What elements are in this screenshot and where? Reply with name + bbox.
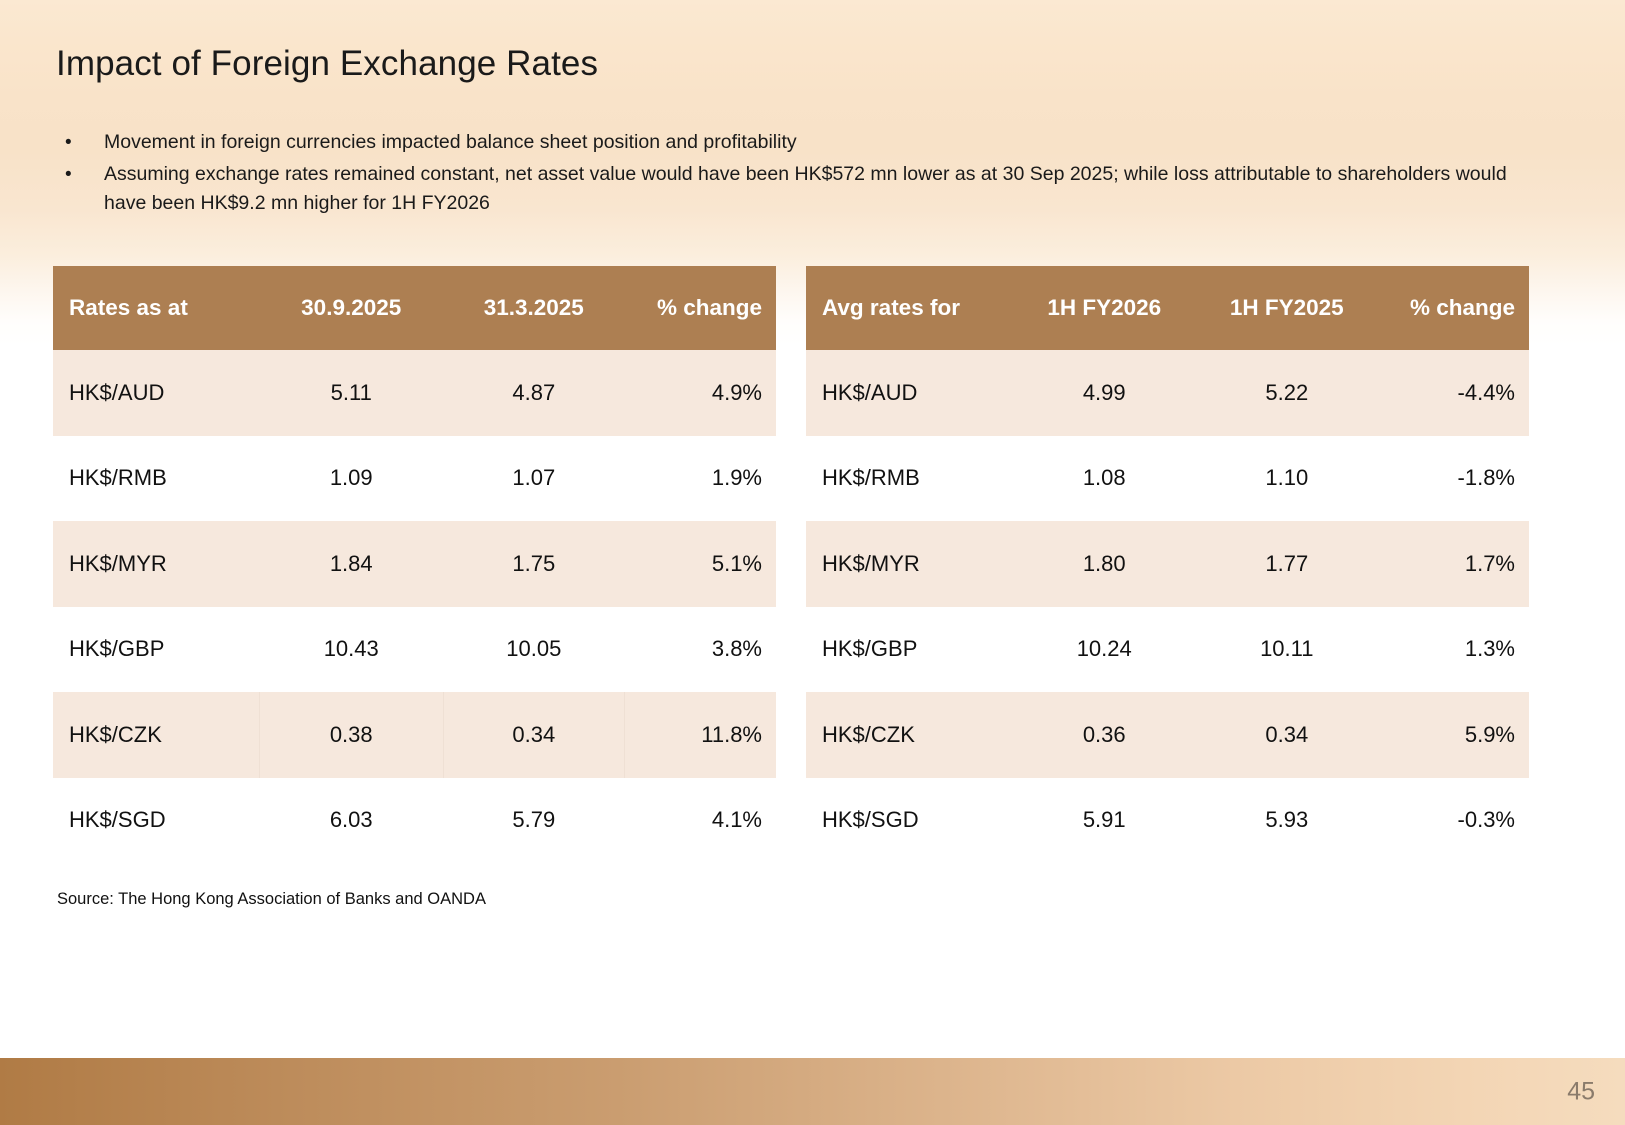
cell-change: 4.9% [624, 350, 776, 436]
table-row: HK$/CZK 0.38 0.34 11.8% [53, 692, 776, 778]
page-number: 45 [1567, 1077, 1595, 1106]
column-header-value2: 31.3.2025 [443, 266, 624, 350]
cell-change: 1.7% [1377, 521, 1529, 607]
cell-value1: 1.09 [259, 436, 443, 522]
cell-currency: HK$/AUD [53, 350, 259, 436]
column-header-value1: 30.9.2025 [259, 266, 443, 350]
cell-value1: 10.43 [259, 607, 443, 693]
cell-change: -4.4% [1377, 350, 1529, 436]
column-header-change: % change [1377, 266, 1529, 350]
table-body: HK$/AUD 4.99 5.22 -4.4% HK$/RMB 1.08 1.1… [806, 350, 1529, 863]
cell-currency: HK$/MYR [806, 521, 1012, 607]
cell-value1: 0.38 [259, 692, 443, 778]
cell-change: 1.9% [624, 436, 776, 522]
cell-change: 11.8% [624, 692, 776, 778]
list-item: • Movement in foreign currencies impacte… [56, 128, 1536, 158]
cell-currency: HK$/CZK [53, 692, 259, 778]
cell-value1: 5.91 [1012, 778, 1196, 864]
table-header-row: Avg rates for 1H FY2026 1H FY2025 % chan… [806, 266, 1529, 350]
cell-value1: 0.36 [1012, 692, 1196, 778]
cell-value2: 1.10 [1196, 436, 1377, 522]
cell-currency: HK$/RMB [53, 436, 259, 522]
cell-change: 3.8% [624, 607, 776, 693]
table-row: HK$/MYR 1.80 1.77 1.7% [806, 521, 1529, 607]
cell-value1: 1.08 [1012, 436, 1196, 522]
cell-value2: 10.11 [1196, 607, 1377, 693]
table-body: HK$/AUD 5.11 4.87 4.9% HK$/RMB 1.09 1.07… [53, 350, 776, 863]
cell-value1: 1.84 [259, 521, 443, 607]
table-row: HK$/GBP 10.24 10.11 1.3% [806, 607, 1529, 693]
average-rates-table: Avg rates for 1H FY2026 1H FY2025 % chan… [806, 266, 1529, 863]
cell-change: 4.1% [624, 778, 776, 864]
cell-value1: 4.99 [1012, 350, 1196, 436]
table-row: HK$/AUD 5.11 4.87 4.9% [53, 350, 776, 436]
cell-value1: 6.03 [259, 778, 443, 864]
cell-currency: HK$/CZK [806, 692, 1012, 778]
cell-value2: 5.79 [443, 778, 624, 864]
source-note: Source: The Hong Kong Association of Ban… [57, 890, 486, 909]
bullet-marker-icon: • [56, 128, 104, 157]
table-row: HK$/SGD 6.03 5.79 4.1% [53, 778, 776, 864]
cell-value2: 1.75 [443, 521, 624, 607]
cell-change: 1.3% [1377, 607, 1529, 693]
bullet-marker-icon: • [56, 160, 104, 189]
table-header: Avg rates for 1H FY2026 1H FY2025 % chan… [806, 266, 1529, 350]
column-header-value1: 1H FY2026 [1012, 266, 1196, 350]
tables-container: Rates as at 30.9.2025 31.3.2025 % change… [53, 266, 1531, 863]
footer-bar: 45 [0, 1058, 1625, 1125]
cell-currency: HK$/SGD [806, 778, 1012, 864]
bullet-text: Movement in foreign currencies impacted … [104, 128, 1536, 158]
cell-value2: 5.93 [1196, 778, 1377, 864]
table-row: HK$/AUD 4.99 5.22 -4.4% [806, 350, 1529, 436]
column-header-label: Rates as at [53, 266, 259, 350]
slide-canvas: Impact of Foreign Exchange Rates • Movem… [0, 0, 1625, 1125]
bullet-list: • Movement in foreign currencies impacte… [56, 128, 1536, 221]
cell-value2: 0.34 [1196, 692, 1377, 778]
column-header-change: % change [624, 266, 776, 350]
cell-value1: 10.24 [1012, 607, 1196, 693]
cell-value2: 1.07 [443, 436, 624, 522]
cell-value2: 0.34 [443, 692, 624, 778]
cell-value2: 5.22 [1196, 350, 1377, 436]
cell-value1: 5.11 [259, 350, 443, 436]
table-header: Rates as at 30.9.2025 31.3.2025 % change [53, 266, 776, 350]
list-item: • Assuming exchange rates remained const… [56, 160, 1536, 219]
cell-change: 5.1% [624, 521, 776, 607]
cell-currency: HK$/MYR [53, 521, 259, 607]
cell-currency: HK$/RMB [806, 436, 1012, 522]
cell-value2: 10.05 [443, 607, 624, 693]
cell-value2: 1.77 [1196, 521, 1377, 607]
cell-currency: HK$/AUD [806, 350, 1012, 436]
cell-change: -1.8% [1377, 436, 1529, 522]
table-row: HK$/GBP 10.43 10.05 3.8% [53, 607, 776, 693]
cell-value1: 1.80 [1012, 521, 1196, 607]
table-row: HK$/RMB 1.09 1.07 1.9% [53, 436, 776, 522]
cell-value2: 4.87 [443, 350, 624, 436]
column-header-value2: 1H FY2025 [1196, 266, 1377, 350]
table-row: HK$/RMB 1.08 1.10 -1.8% [806, 436, 1529, 522]
column-header-label: Avg rates for [806, 266, 1012, 350]
spot-rates-table: Rates as at 30.9.2025 31.3.2025 % change… [53, 266, 776, 863]
cell-currency: HK$/GBP [53, 607, 259, 693]
cell-change: -0.3% [1377, 778, 1529, 864]
table-row: HK$/CZK 0.36 0.34 5.9% [806, 692, 1529, 778]
cell-change: 5.9% [1377, 692, 1529, 778]
cell-currency: HK$/SGD [53, 778, 259, 864]
table-row: HK$/SGD 5.91 5.93 -0.3% [806, 778, 1529, 864]
bullet-text: Assuming exchange rates remained constan… [104, 160, 1536, 219]
table-header-row: Rates as at 30.9.2025 31.3.2025 % change [53, 266, 776, 350]
page-title: Impact of Foreign Exchange Rates [56, 44, 598, 84]
table-row: HK$/MYR 1.84 1.75 5.1% [53, 521, 776, 607]
cell-currency: HK$/GBP [806, 607, 1012, 693]
